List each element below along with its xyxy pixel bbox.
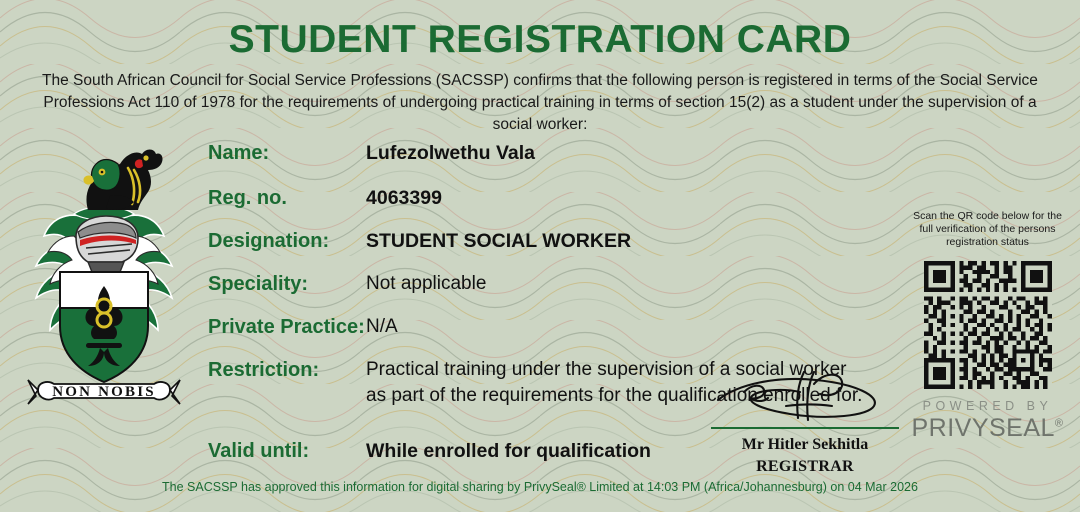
qr-caption: Scan the QR code below for the full veri… xyxy=(905,210,1070,249)
detail-label-restriction: Restriction: xyxy=(208,359,319,382)
privyseal-brand: PRIVYSEAL® xyxy=(905,414,1070,443)
handwritten-signature-icon xyxy=(690,366,920,422)
signature-rule xyxy=(711,427,899,429)
student-registration-card: STUDENT REGISTRATION CARD The South Afri… xyxy=(0,0,1080,512)
detail-label-reg-no: Reg. no. xyxy=(208,187,287,210)
detail-value-private-practice: N/A xyxy=(366,316,398,338)
sacssp-coat-of-arms-emblem: NON NOBIS xyxy=(14,140,194,420)
intro-paragraph: The South African Council for Social Ser… xyxy=(30,70,1050,136)
powered-by-label: POWERED BY xyxy=(905,399,1070,413)
registered-trademark-icon: ® xyxy=(1055,418,1064,430)
detail-label-private-practice: Private Practice: xyxy=(208,316,365,339)
emblem-motto-text: NON NOBIS xyxy=(52,384,156,400)
signature-block: Mr Hitler Sekhitla REGISTRAR xyxy=(690,366,920,476)
detail-label-designation: Designation: xyxy=(208,230,329,253)
registrar-name: Mr Hitler Sekhitla xyxy=(690,436,920,454)
approval-footer: The SACSSP has approved this information… xyxy=(0,480,1080,494)
detail-label-name: Name: xyxy=(208,142,269,165)
qr-code[interactable] xyxy=(924,261,1052,389)
detail-value-name: Lufezolwethu Vala xyxy=(366,142,535,165)
qr-verification-panel: Scan the QR code below for the full veri… xyxy=(905,210,1070,443)
detail-value-reg-no: 4063399 xyxy=(366,187,442,210)
detail-value-valid-until: While enrolled for qualification xyxy=(366,440,651,463)
privyseal-brand-text: PRIVYSEAL xyxy=(911,414,1054,442)
registrar-role: REGISTRAR xyxy=(690,458,920,476)
detail-value-speciality: Not applicable xyxy=(366,273,486,295)
detail-label-valid-until: Valid until: xyxy=(208,440,309,463)
detail-label-speciality: Speciality: xyxy=(208,273,308,296)
page-title: STUDENT REGISTRATION CARD xyxy=(0,18,1080,62)
detail-value-designation: STUDENT SOCIAL WORKER xyxy=(366,230,631,253)
